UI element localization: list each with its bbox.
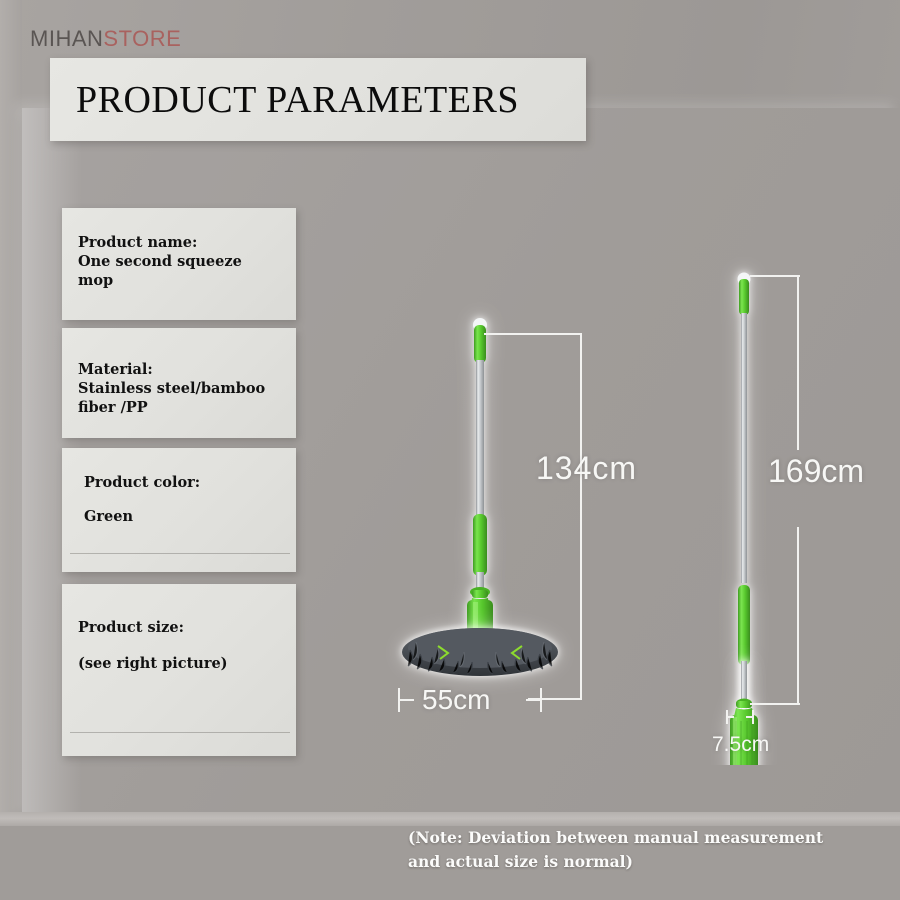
dim-134-vertical [580,333,582,700]
dim-169-vertical-bottom [797,527,799,705]
dim-169-vertical-top [797,275,799,450]
mop-extended-grip [690,255,890,765]
dim-label-55cm: 55cm [422,684,490,716]
product-parameters-infographic: MIHANSTORE PRODUCT PARAMETERS Product na… [0,0,900,900]
spec-box-product-name: Product name: One second squeeze mop [62,208,296,320]
spec-box-product-name-text: Product name: One second squeeze mop [78,233,286,290]
spec-box-product-size-text: Product size: (see right picture) [78,610,286,682]
dim-label-134cm: 134cm [536,450,637,487]
spec-box-material: Material: Stainless steel/bamboo fiber /… [62,328,296,438]
spec-box-product-size: Product size: (see right picture) [62,584,296,756]
spec-box-material-text: Material: Stainless steel/bamboo fiber /… [78,360,286,417]
dim-169-top-leader [750,275,800,277]
spec-box-separator [70,732,290,733]
figure-mop-extended: 169cm 7.5cm [690,255,890,765]
mop-assembled-illustration [380,300,610,720]
figure-mop-assembled: 134cm 55cm [380,300,610,720]
brand-logo-mihan: MIHAN [30,26,103,51]
brand-logo-store: STORE [103,26,181,51]
dim-75-left-arm [726,716,734,718]
dim-134-top-leader [484,333,582,335]
dim-label-75cm: 7.5cm [712,733,769,757]
spec-box-product-color-text: Product color: Green [84,466,286,534]
dim-55-right-arm [526,699,542,701]
spec-box-product-color: Product color: Green [62,448,296,572]
spec-box-separator [70,553,290,554]
page-title-panel: PRODUCT PARAMETERS [50,58,586,141]
dim-label-169cm: 169cm [768,453,864,490]
dim-169-bottom-leader [750,703,800,705]
dim-75-right-arm [746,716,754,718]
footer-divider [0,812,900,826]
brand-logo: MIHANSTORE [30,26,181,52]
left-edge-strip [0,0,22,900]
measurement-note: (Note: Deviation between manual measurem… [408,826,878,874]
dim-55-left-arm [398,699,414,701]
page-title: PRODUCT PARAMETERS [76,78,519,122]
